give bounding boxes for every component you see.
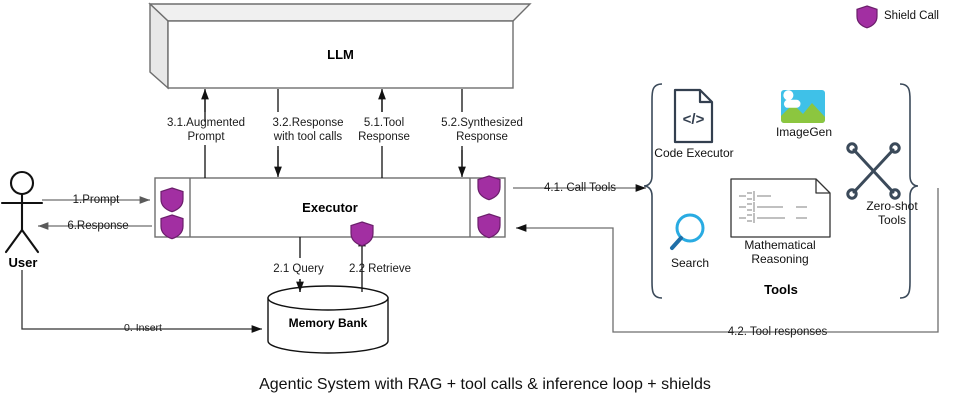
llm-node (150, 4, 530, 88)
shield-icon-exec-left-top (161, 188, 183, 212)
svg-text:</>: </> (683, 111, 705, 128)
user-label: User (0, 255, 46, 270)
magnifier-icon (672, 215, 703, 248)
diagram-caption: Agentic System with RAG + tool calls & i… (0, 376, 970, 394)
legend-shield-label: Shield Call (884, 10, 939, 22)
tool-caption-search: Search (648, 256, 732, 270)
image-picture-icon (781, 90, 825, 123)
tool-caption-zero-shot: Zero-shot Tools (836, 199, 948, 228)
edge-label-prompt: 1.Prompt (46, 193, 146, 207)
math-formula-document-icon (731, 179, 830, 237)
shield-icon-exec-left-bottom (161, 215, 183, 239)
diagram-canvas: </> (0, 0, 970, 411)
tool-caption-code-executor: Code Executor (638, 146, 750, 160)
tool-caption-math-reasoning: Mathematical Reasoning (721, 238, 839, 267)
shield-icon-exec-right-bottom (478, 214, 500, 238)
edge-label-tool-responses: 4.2. Tool responses (710, 325, 845, 339)
edge-label-response: 6.Response (46, 219, 150, 233)
memory-bank-label: Memory Bank (268, 316, 388, 330)
shield-icon-legend (857, 6, 877, 28)
code-file-icon: </> (675, 90, 712, 142)
edge-label-synthesized-response: 5.2.Synthesized Response (411, 116, 553, 145)
shield-icon-exec-center (351, 222, 373, 246)
tools-group-label: Tools (711, 282, 851, 297)
edge-insert (22, 270, 262, 329)
edge-label-call-tools: 4.1. Call Tools (525, 181, 635, 195)
executor-label: Executor (190, 200, 470, 215)
tool-caption-imagegen: ImageGen (758, 125, 850, 139)
edge-label-retrieve: 2.2 Retrieve (330, 262, 430, 276)
edge-label-insert: 0. Insert (78, 322, 208, 335)
llm-label: LLM (168, 47, 513, 62)
crossed-wrenches-icon (848, 144, 899, 198)
shield-icon-exec-right-top (478, 176, 500, 200)
user-actor (2, 172, 42, 252)
